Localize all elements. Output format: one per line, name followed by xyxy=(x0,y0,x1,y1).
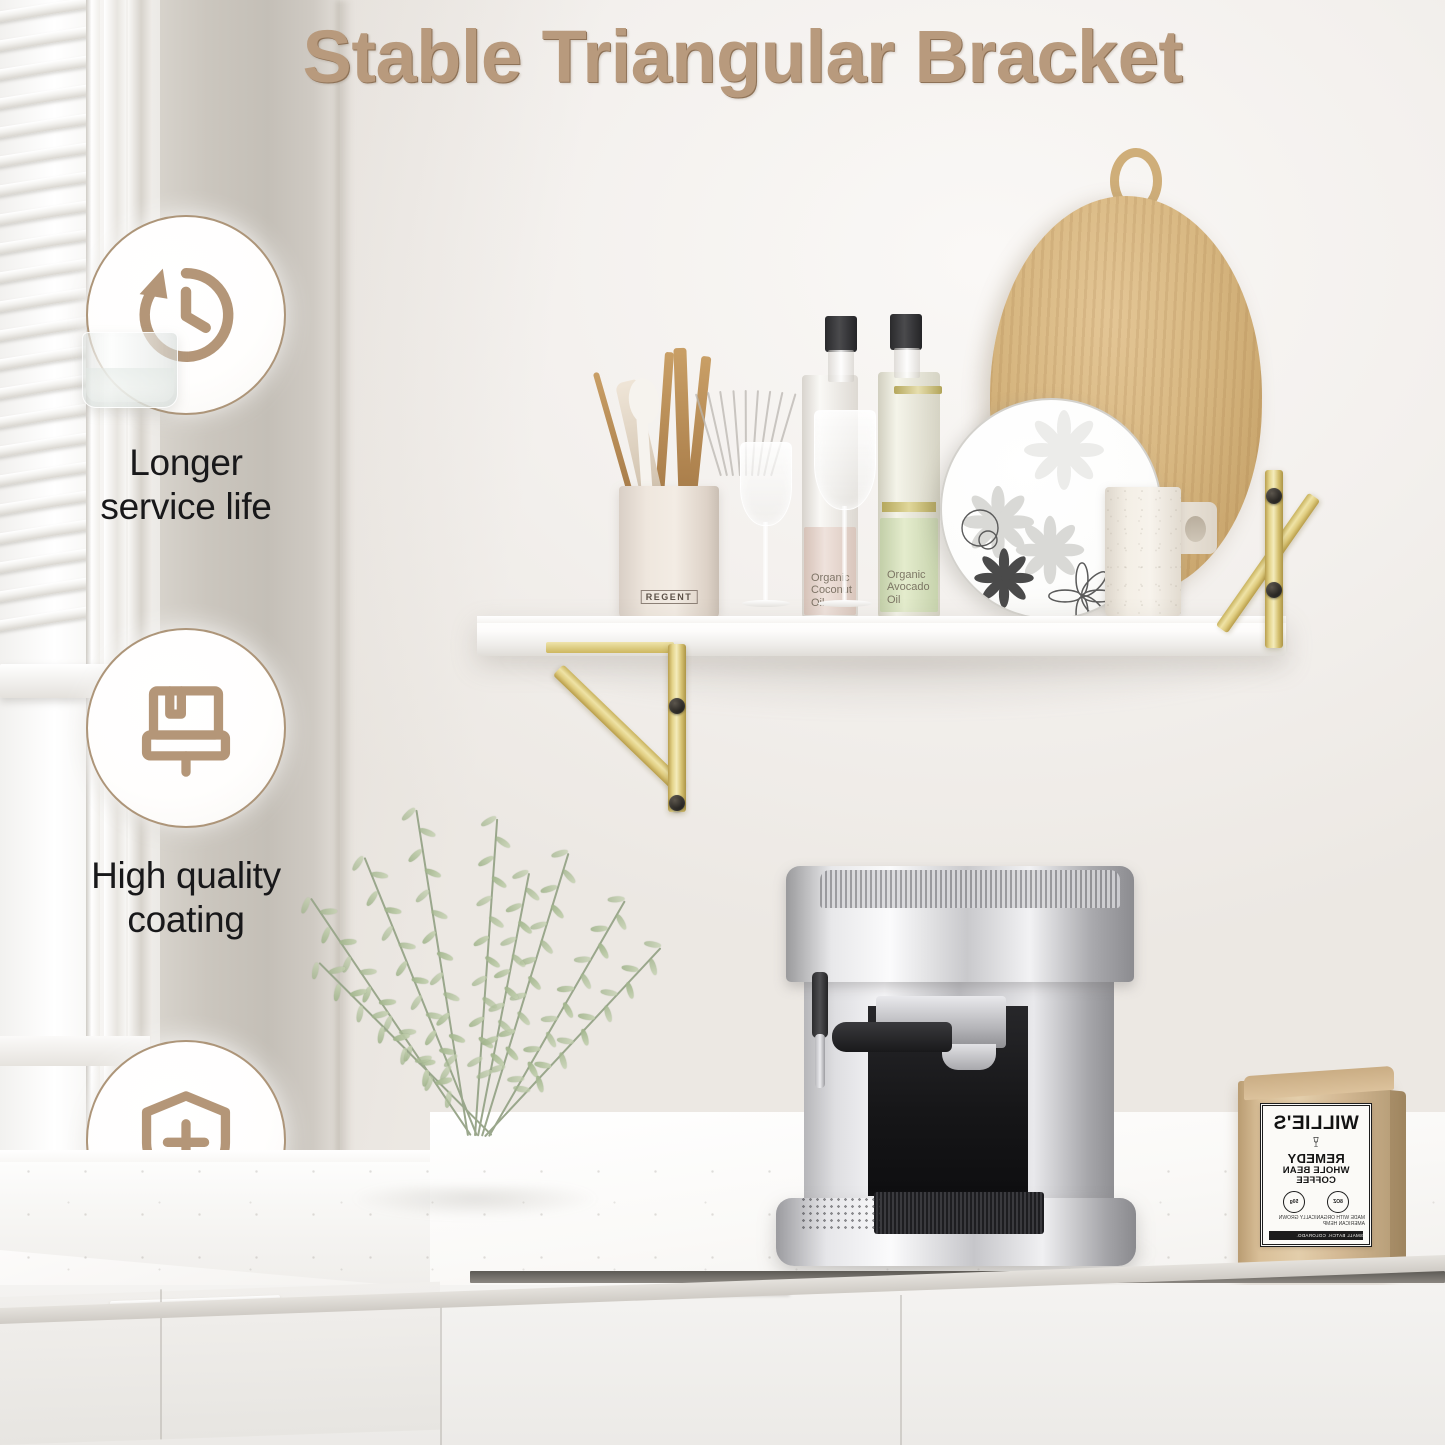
coconut-oil-cap xyxy=(825,316,857,352)
olive-leaf xyxy=(400,806,416,822)
bracket-right-screw-top xyxy=(1266,488,1282,504)
olive-leaf xyxy=(494,835,511,849)
drip-tray-perforations xyxy=(800,1196,880,1232)
feature-label-2: High quality coating xyxy=(36,854,336,941)
olive-leaf xyxy=(524,886,540,901)
wine-glass-right-bowl xyxy=(814,410,876,510)
bracket-left-diagonal-brace xyxy=(553,664,687,794)
shutter-slat xyxy=(0,168,92,198)
utensil-crock: REGENT xyxy=(619,486,719,618)
olive-branch-arrangement xyxy=(330,800,630,1220)
feature-label-1: Longer service life xyxy=(36,441,336,528)
olive-leaf xyxy=(414,1054,432,1063)
avocado-oil-neck xyxy=(894,348,920,378)
olive-leaf xyxy=(648,958,658,976)
feature-badge-2 xyxy=(86,628,286,828)
olive-leaf xyxy=(556,1037,574,1045)
olive-leaf xyxy=(578,1013,596,1021)
olive-leaf xyxy=(350,988,368,997)
shutter-slat xyxy=(0,110,92,140)
page-title: Stable Triangular Bracket xyxy=(0,14,1445,99)
wine-glass-left-foot xyxy=(742,600,790,607)
coffee-weight-badges: 8OZ 50g xyxy=(1283,1191,1349,1213)
wine-glass-left-bowl xyxy=(740,442,792,526)
bracket-left-wall-plate xyxy=(668,644,686,812)
shutter-slat xyxy=(0,545,92,575)
paint-brush-icon xyxy=(128,670,244,786)
olive-leaf xyxy=(377,1026,386,1044)
coffee-product-name: REMEDY xyxy=(1287,1152,1344,1166)
bracket-left-top-arm xyxy=(546,642,674,653)
avocado-oil-label-line2: Avocado xyxy=(887,581,931,593)
olive-leaf xyxy=(407,847,423,863)
wine-glass-right-foot xyxy=(818,600,872,607)
portafilter-handle[interactable] xyxy=(832,1022,952,1052)
avocado-oil-shoulder-band xyxy=(894,386,942,394)
wine-glass-left-stem xyxy=(763,522,768,604)
avocado-oil-cap xyxy=(890,314,922,350)
olive-leaf xyxy=(394,959,408,976)
olive-leaf xyxy=(365,890,379,907)
espresso-machine xyxy=(776,866,1136,1266)
olive-leaf xyxy=(561,868,576,884)
coffee-brand-name: WILLIE'S xyxy=(1273,1114,1359,1133)
olive-leaf xyxy=(513,1085,531,1093)
olive-leaf xyxy=(626,981,636,999)
olive-leaf xyxy=(600,988,618,996)
olive-leaf xyxy=(371,1010,389,1019)
olive-leaf xyxy=(574,956,591,963)
olive-leaf xyxy=(320,908,337,914)
shutter-slat xyxy=(0,139,92,169)
product-scene: Stable Triangular Bracket Longer service… xyxy=(0,0,1445,1445)
cabinet-seam-corner xyxy=(440,1295,442,1445)
olive-leaf xyxy=(435,1076,453,1085)
bracket-right-screw-bottom xyxy=(1266,582,1282,598)
olive-leaf xyxy=(393,1032,411,1041)
coffee-label-line2: COFFEE xyxy=(1296,1176,1336,1187)
shutter-frame-outer xyxy=(128,0,152,1180)
shutter-frame-inner xyxy=(86,0,100,1180)
ceramic-mug xyxy=(1105,487,1181,617)
olive-leaf xyxy=(320,926,331,944)
olive-leaf xyxy=(421,1069,430,1087)
coffee-label-mid-text: MADE WITH ORGANICALLY GROWN AMERICAN HEM… xyxy=(1267,1215,1365,1227)
olive-leaf xyxy=(443,1090,452,1108)
shutter-slat xyxy=(0,574,92,604)
avocado-oil-label-line1: Organic xyxy=(887,569,931,581)
olive-leaf xyxy=(351,855,365,872)
feature-high-quality-coating: High quality coating xyxy=(36,628,336,941)
olive-leaf xyxy=(580,1028,590,1046)
coffee-label-footer: SMALL BATCH. COLORADO. xyxy=(1269,1231,1363,1240)
olive-leaf xyxy=(475,1068,493,1080)
avocado-oil-label: Organic Avocado Oil xyxy=(880,518,938,612)
coconut-oil-neck xyxy=(828,350,854,382)
olive-leaf xyxy=(517,919,533,934)
coffee-bag: WILLIE'S REMEDY WHOLE BEAN COFFEE 8OZ 50… xyxy=(1238,1055,1398,1277)
olive-leaf xyxy=(399,1048,408,1066)
crock-brand-label: REGENT xyxy=(641,590,698,604)
coffee-badge-grams: 50g xyxy=(1283,1191,1305,1213)
olive-leaf xyxy=(534,1061,552,1069)
avocado-oil-gold-band xyxy=(882,502,936,512)
olive-leaf xyxy=(615,913,628,931)
olive-leaf xyxy=(558,1052,568,1070)
steam-wand-tip xyxy=(815,1034,825,1088)
bracket-left-screw-top xyxy=(669,698,685,714)
olive-leaf xyxy=(539,939,554,955)
olive-leaf xyxy=(622,964,640,972)
espresso-machine-top-housing xyxy=(786,866,1134,982)
cup-warmer-grill xyxy=(820,870,1120,908)
vase-water xyxy=(86,368,174,402)
olive-leaf xyxy=(333,983,342,1001)
coffee-bag-label: WILLIE'S REMEDY WHOLE BEAN COFFEE 8OZ 50… xyxy=(1260,1103,1372,1247)
window-area xyxy=(0,0,160,1180)
triangular-bracket-right[interactable] xyxy=(1203,470,1313,665)
bracket-left-screw-bottom xyxy=(669,795,685,811)
whisk-wire xyxy=(720,391,735,476)
cabinet-seam-right xyxy=(900,1295,902,1445)
shutter-frame-mid xyxy=(104,0,126,1180)
feature-longer-service-life: Longer service life xyxy=(36,215,336,528)
olive-leaf xyxy=(597,943,610,961)
avocado-oil-bottle: Organic Avocado Oil xyxy=(878,372,940,618)
olive-leaf xyxy=(328,966,346,975)
olive-leaf xyxy=(550,903,565,919)
olive-leaf xyxy=(355,1005,364,1023)
olive-leaf xyxy=(535,1075,545,1093)
goblet-illustration-icon xyxy=(1306,1136,1326,1149)
olive-leaf xyxy=(603,1005,613,1023)
drip-tray-grate xyxy=(874,1192,1044,1234)
olive-leaf xyxy=(380,924,394,941)
wine-glass-right-stem xyxy=(842,506,847,604)
coffee-badge-oz: 8OZ xyxy=(1327,1191,1349,1213)
steam-wand-grip[interactable] xyxy=(812,972,828,1038)
avocado-oil-label-line3: Oil xyxy=(887,594,931,606)
olive-leaf xyxy=(480,814,497,827)
